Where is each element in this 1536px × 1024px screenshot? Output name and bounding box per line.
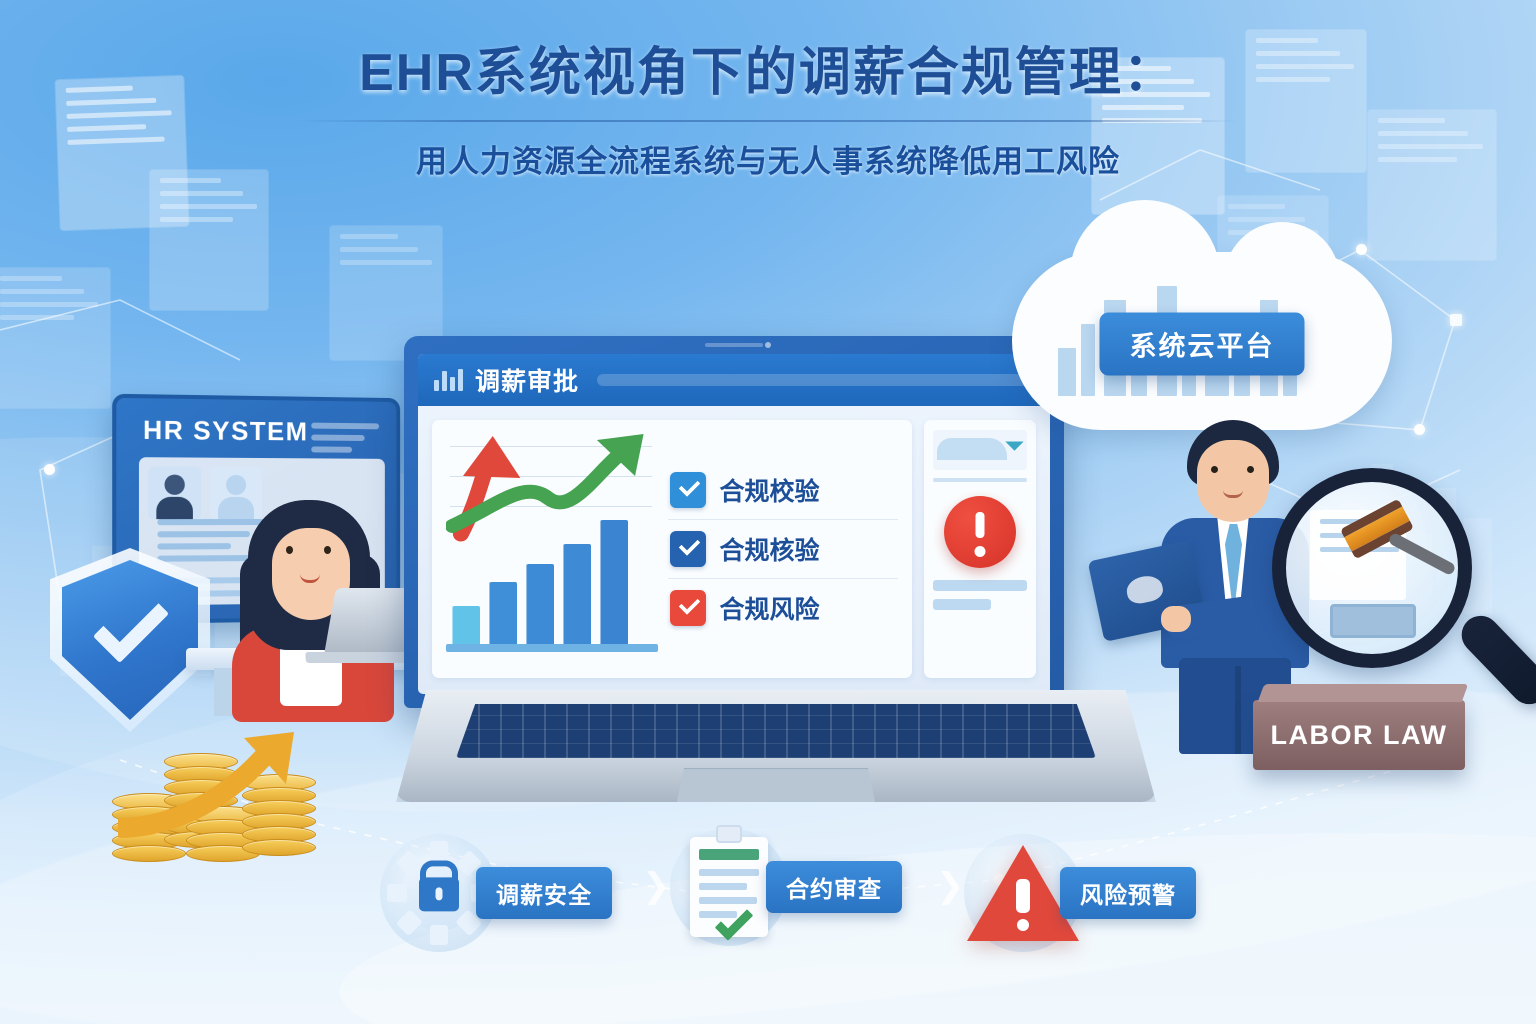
book-title: LABOR LAW: [1253, 720, 1465, 751]
salary-growth-chart: [446, 432, 658, 666]
growth-arrow-icon: [118, 730, 324, 840]
panel-text-line: [933, 580, 1027, 591]
employee-avatar-icon: [148, 466, 201, 519]
magnifier-icon: [1272, 468, 1472, 668]
process-step-risk[interactable]: 风险预警: [964, 834, 1196, 952]
laptop-base: [396, 690, 1156, 802]
app-content: 合规校验 合规核验 合规风险: [418, 406, 1050, 694]
header: EHR系统视角下的调薪合规管理： 用人力资源全流程系统与无人事系统降低用工风险: [0, 44, 1536, 181]
laptop-screen: 调薪审批: [418, 354, 1050, 694]
process-step-label: 合约审查: [766, 861, 902, 913]
webcam-icon: [705, 343, 763, 347]
keyboard[interactable]: [456, 704, 1096, 758]
process-step-security[interactable]: 调薪安全: [380, 834, 612, 952]
panel-text-line: [933, 599, 991, 610]
checklist-label: 合规校验: [719, 472, 819, 508]
coin-stacks-illustration: [112, 712, 322, 862]
bar-chart-icon: [434, 369, 463, 391]
clipboard-shape: [690, 837, 768, 937]
mini-trend-chart: [933, 430, 1027, 470]
process-step-label: 风险预警: [1060, 867, 1196, 919]
chart-axis: [446, 644, 658, 652]
checklist-label: 合规核验: [719, 531, 819, 567]
page-subtitle: 用人力资源全流程系统与无人事系统降低用工风险: [0, 136, 1536, 181]
checklist-item[interactable]: 合规风险: [668, 578, 898, 637]
process-step-contract[interactable]: 合约审查: [670, 828, 902, 946]
compliance-card: 合规校验 合规核验 合规风险: [432, 420, 912, 678]
app-titlebar: 调薪审批: [418, 354, 1050, 406]
process-steps: 调薪安全 ❯ 合约审查 ❯: [380, 824, 1260, 964]
checkbox-alert-icon[interactable]: [670, 590, 706, 626]
checkbox-checked-icon[interactable]: [670, 531, 706, 567]
gear-shape: [391, 845, 487, 941]
checklist-item[interactable]: 合规核验: [668, 519, 898, 578]
compliance-checklist: 合规校验 合规核验 合规风险: [668, 432, 898, 666]
chart-bar: [452, 606, 480, 644]
checkbox-checked-icon[interactable]: [670, 472, 706, 508]
chevron-right-icon: ❯: [642, 866, 671, 906]
chart-bar: [526, 564, 554, 644]
trackpad[interactable]: [676, 768, 876, 806]
alert-panel: [924, 420, 1036, 678]
chart-bars: [452, 516, 628, 644]
alert-circle-icon: [944, 496, 1016, 568]
chart-bar: [563, 544, 591, 644]
labor-law-book: LABOR LAW: [1253, 700, 1465, 770]
panel-divider-line: [933, 478, 1027, 482]
magnifier-lens: [1272, 468, 1472, 668]
process-step-label: 调薪安全: [476, 867, 612, 919]
page-title: EHR系统视角下的调薪合规管理：: [0, 44, 1536, 104]
checklist-label: 合规风险: [719, 590, 819, 626]
chevron-right-icon: ❯: [936, 866, 965, 906]
lock-icon: [419, 877, 459, 911]
cloud-platform-badge: 系统云平台: [1012, 252, 1392, 430]
chart-bar: [600, 520, 628, 644]
app-title: 调薪审批: [475, 362, 579, 398]
chart-bar: [489, 582, 517, 644]
trend-up-arrow-icon: [1005, 432, 1023, 450]
titlebar-progress: [597, 374, 1034, 386]
gavel-block: [1330, 604, 1416, 638]
infographic-canvas: EHR系统视角下的调薪合规管理： 用人力资源全流程系统与无人事系统降低用工风险 …: [0, 0, 1536, 1024]
title-divider: [298, 120, 1238, 122]
green-check-icon: [715, 902, 754, 941]
checklist-item[interactable]: 合规校验: [668, 461, 898, 519]
cloud-badge-label: 系统云平台: [1100, 313, 1305, 376]
laptop-lid: 调薪审批: [404, 336, 1064, 708]
hr-panel-header-lines: [311, 423, 379, 459]
